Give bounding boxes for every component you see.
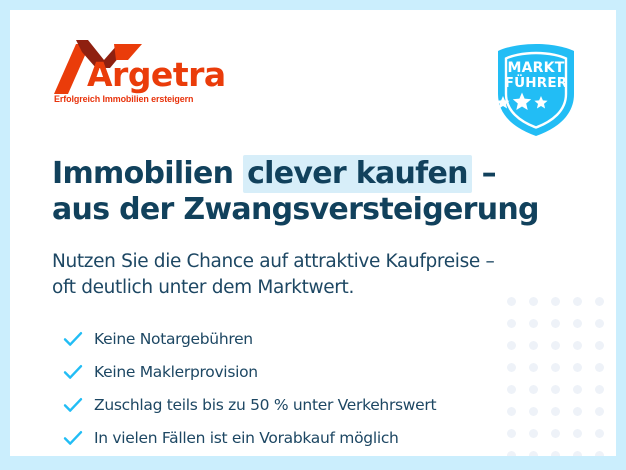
decorative-dot (551, 451, 560, 457)
banner-header: Argetra Erfolgreich Immobilien ersteiger… (10, 10, 616, 138)
list-item: Keine Maklerprovision (62, 361, 588, 383)
list-item: In vielen Fällen ist ein Vorabkauf mögli… (62, 427, 588, 449)
list-item-label: Keine Maklerprovision (94, 363, 258, 382)
market-leader-badge: MARKT FÜHRER (494, 42, 578, 138)
headline-line-2: aus der Zwangsversteigerung (52, 192, 539, 227)
headline-part-2: – (472, 156, 496, 191)
check-icon (62, 361, 84, 383)
list-item: Zuschlag teils bis zu 50 % unter Verkehr… (62, 394, 588, 416)
list-item-label: Zuschlag teils bis zu 50 % unter Verkehr… (94, 396, 436, 415)
decorative-dot (595, 451, 604, 457)
page-title: Immobilien clever kaufen – aus der Zwang… (52, 156, 588, 229)
banner-content: Immobilien clever kaufen – aus der Zwang… (10, 156, 616, 449)
logo-wordmark: Argetra (87, 58, 226, 91)
list-item-label: In vielen Fällen ist ein Vorabkauf mögli… (94, 429, 399, 448)
banner-card: Argetra Erfolgreich Immobilien ersteiger… (10, 10, 616, 456)
argetra-logo[interactable]: Argetra Erfolgreich Immobilien ersteiger… (52, 38, 212, 110)
decorative-dot (529, 451, 538, 457)
shield-icon (494, 42, 578, 138)
subheadline-line-1: Nutzen Sie die Chance auf attraktive Kau… (52, 251, 494, 272)
decorative-dot (573, 451, 582, 457)
promo-banner: Argetra Erfolgreich Immobilien ersteiger… (0, 0, 626, 470)
subheadline: Nutzen Sie die Chance auf attraktive Kau… (52, 249, 588, 303)
check-icon (62, 328, 84, 350)
subheadline-line-2: oft deutlich unter dem Marktwert. (52, 277, 354, 298)
list-item: Keine Notargebühren (62, 328, 588, 350)
headline-part-1: Immobilien (52, 156, 243, 191)
logo-tagline: Erfolgreich Immobilien ersteigern (54, 94, 193, 105)
check-icon (62, 427, 84, 449)
headline-highlight: clever kaufen (243, 155, 472, 193)
list-item-label: Keine Notargebühren (94, 330, 253, 349)
benefits-list: Keine Notargebühren Keine Maklerprovisio… (52, 328, 588, 449)
decorative-dot (507, 451, 516, 457)
check-icon (62, 394, 84, 416)
